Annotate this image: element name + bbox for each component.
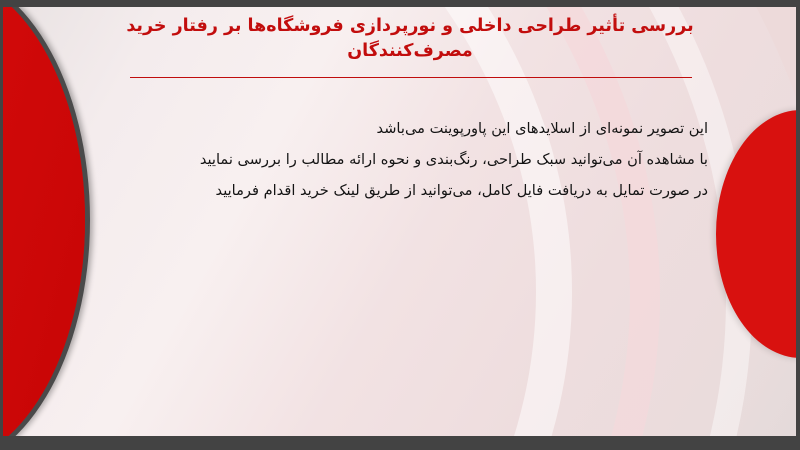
slide-frame-right	[796, 0, 800, 450]
slide-frame-bottom	[0, 436, 800, 450]
body-line-1: این تصویر نمونه‌ای از اسلایدهای این پاور…	[92, 118, 708, 140]
body-line-3: در صورت تمایل به دریافت فایل کامل، می‌تو…	[92, 180, 708, 202]
slide-title-block: بررسی تأثیر طراحی داخلی و نورپردازی فروش…	[110, 14, 710, 64]
slide-frame-left	[0, 0, 3, 450]
page-title: بررسی تأثیر طراحی داخلی و نورپردازی فروش…	[110, 14, 710, 64]
slide-content: بررسی تأثیر طراحی داخلی و نورپردازی فروش…	[0, 0, 800, 450]
title-underline-rule	[130, 77, 692, 78]
body-line-2: با مشاهده آن می‌توانید سبک طراحی، رنگ‌بن…	[92, 149, 708, 171]
slide-body-block: این تصویر نمونه‌ای از اسلایدهای این پاور…	[92, 118, 708, 203]
slide-frame-top	[0, 0, 800, 7]
presentation-slide: بررسی تأثیر طراحی داخلی و نورپردازی فروش…	[0, 0, 800, 450]
